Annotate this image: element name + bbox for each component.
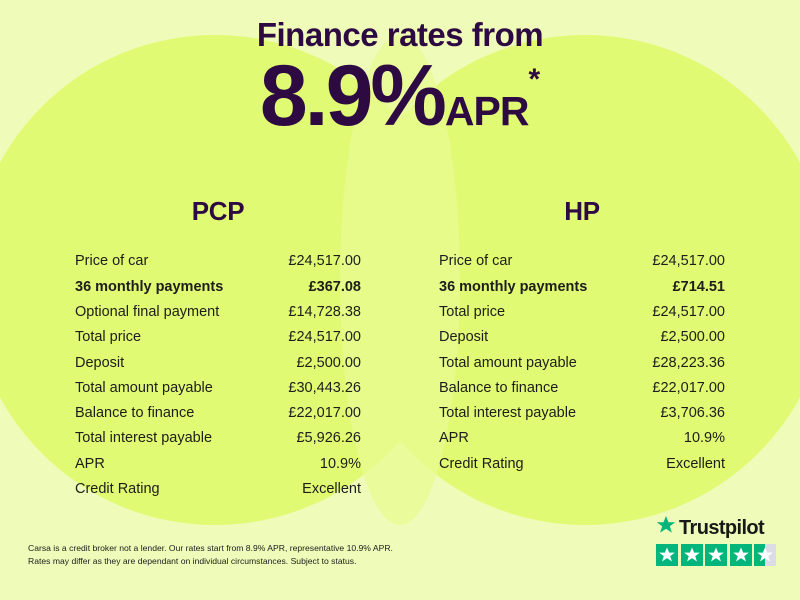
plan-row-label: Deposit: [75, 356, 124, 371]
plan-row-label: Balance to finance: [75, 406, 194, 421]
headline-block: Finance rates from 8.9% APR *: [0, 18, 800, 136]
finance-plans: PCP Price of car£24,517.0036 monthly pay…: [0, 196, 800, 502]
plan-pcp-title: PCP: [75, 196, 361, 227]
plan-row-label: Price of car: [75, 254, 148, 269]
plan-row: Price of car£24,517.00: [439, 249, 725, 274]
plan-pcp: PCP Price of car£24,517.0036 monthly pay…: [75, 196, 361, 502]
plan-row-label: Total interest payable: [439, 406, 576, 421]
plan-row-value: £24,517.00: [288, 254, 361, 269]
plan-row-value: £2,500.00: [296, 356, 361, 371]
plan-row: Price of car£24,517.00: [75, 249, 361, 274]
plan-row: Credit RatingExcellent: [439, 451, 725, 476]
plan-row-value: £28,223.36: [652, 356, 725, 371]
plan-row: Deposit£2,500.00: [439, 325, 725, 350]
plan-row-value: £30,443.26: [288, 381, 361, 396]
plan-row: Balance to finance£22,017.00: [75, 401, 361, 426]
plan-row-value: £24,517.00: [652, 305, 725, 320]
plan-row-value: £24,517.00: [652, 254, 725, 269]
plan-row-label: Total amount payable: [75, 381, 213, 396]
promo-graphic: Finance rates from 8.9% APR * PCP Price …: [0, 0, 800, 600]
plan-row-label: Price of car: [439, 254, 512, 269]
trustpilot-star-half: [754, 544, 776, 566]
plan-row-label: Optional final payment: [75, 305, 219, 320]
plan-row-label: Total price: [75, 330, 141, 345]
plan-row: APR10.9%: [75, 451, 361, 476]
plan-row-label: Total amount payable: [439, 356, 577, 371]
plan-row-label: 36 monthly payments: [439, 280, 587, 295]
trustpilot-wordmark-text: Trustpilot: [679, 518, 764, 538]
plan-row: Total interest payable£3,706.36: [439, 401, 725, 426]
headline-asterisk: *: [528, 65, 540, 95]
trustpilot-star-full: [705, 544, 727, 566]
plan-row-label: 36 monthly payments: [75, 280, 223, 295]
plan-row-value: £22,017.00: [652, 381, 725, 396]
plan-row: Deposit£2,500.00: [75, 350, 361, 375]
plan-row-label: Credit Rating: [75, 482, 160, 497]
plan-row: APR10.9%: [439, 426, 725, 451]
legal-disclaimer-line-2: Rates may differ as they are dependant o…: [28, 555, 458, 568]
plan-row-value: 10.9%: [684, 431, 725, 446]
plan-row: Total amount payable£30,443.26: [75, 375, 361, 400]
plan-row-label: Total interest payable: [75, 431, 212, 446]
plan-row: Total interest payable£5,926.26: [75, 426, 361, 451]
trustpilot-widget[interactable]: Trustpilot: [656, 515, 778, 566]
plan-row: Balance to finance£22,017.00: [439, 375, 725, 400]
trustpilot-wordmark: Trustpilot: [656, 515, 778, 540]
plan-row: Total amount payable£28,223.36: [439, 350, 725, 375]
plan-row-value: £714.51: [673, 280, 725, 295]
plan-row-label: Deposit: [439, 330, 488, 345]
trustpilot-star-full: [681, 544, 703, 566]
plan-row: 36 monthly payments£714.51: [439, 274, 725, 299]
trustpilot-star-full: [656, 544, 678, 566]
plan-row: Optional final payment£14,728.38: [75, 300, 361, 325]
plan-row-value: Excellent: [302, 482, 361, 497]
plan-row-value: £2,500.00: [660, 330, 725, 345]
plan-row-value: £24,517.00: [288, 330, 361, 345]
legal-disclaimer-line-1: Carsa is a credit broker not a lender. O…: [28, 542, 458, 555]
headline-apr-label: APR: [445, 91, 529, 132]
plan-pcp-rows: Price of car£24,517.0036 monthly payment…: [75, 249, 361, 502]
plan-row-value: £14,728.38: [288, 305, 361, 320]
trustpilot-star-icon: [656, 515, 676, 540]
plan-row-label: APR: [75, 457, 105, 472]
plan-row: Total price£24,517.00: [75, 325, 361, 350]
plan-hp-title: HP: [439, 196, 725, 227]
plan-row-value: Excellent: [666, 457, 725, 472]
plan-row-value: £367.08: [309, 280, 361, 295]
headline-rate-row: 8.9% APR *: [0, 57, 800, 136]
headline-top-line: Finance rates from: [0, 18, 800, 51]
plan-row-label: Balance to finance: [439, 381, 558, 396]
legal-disclaimer: Carsa is a credit broker not a lender. O…: [28, 542, 458, 569]
trustpilot-star-full: [730, 544, 752, 566]
plan-row-value: £22,017.00: [288, 406, 361, 421]
plan-row-label: APR: [439, 431, 469, 446]
trustpilot-star-rating: [656, 544, 778, 566]
plan-row-value: £5,926.26: [296, 431, 361, 446]
plan-hp: HP Price of car£24,517.0036 monthly paym…: [439, 196, 725, 502]
plan-hp-rows: Price of car£24,517.0036 monthly payment…: [439, 249, 725, 477]
plan-row: Total price£24,517.00: [439, 300, 725, 325]
plan-row-label: Total price: [439, 305, 505, 320]
headline-rate-value: 8.9%: [260, 57, 444, 136]
plan-row-label: Credit Rating: [439, 457, 524, 472]
plan-row-value: £3,706.36: [660, 406, 725, 421]
plan-row: Credit RatingExcellent: [75, 477, 361, 502]
plan-row: 36 monthly payments£367.08: [75, 274, 361, 299]
plan-row-value: 10.9%: [320, 457, 361, 472]
